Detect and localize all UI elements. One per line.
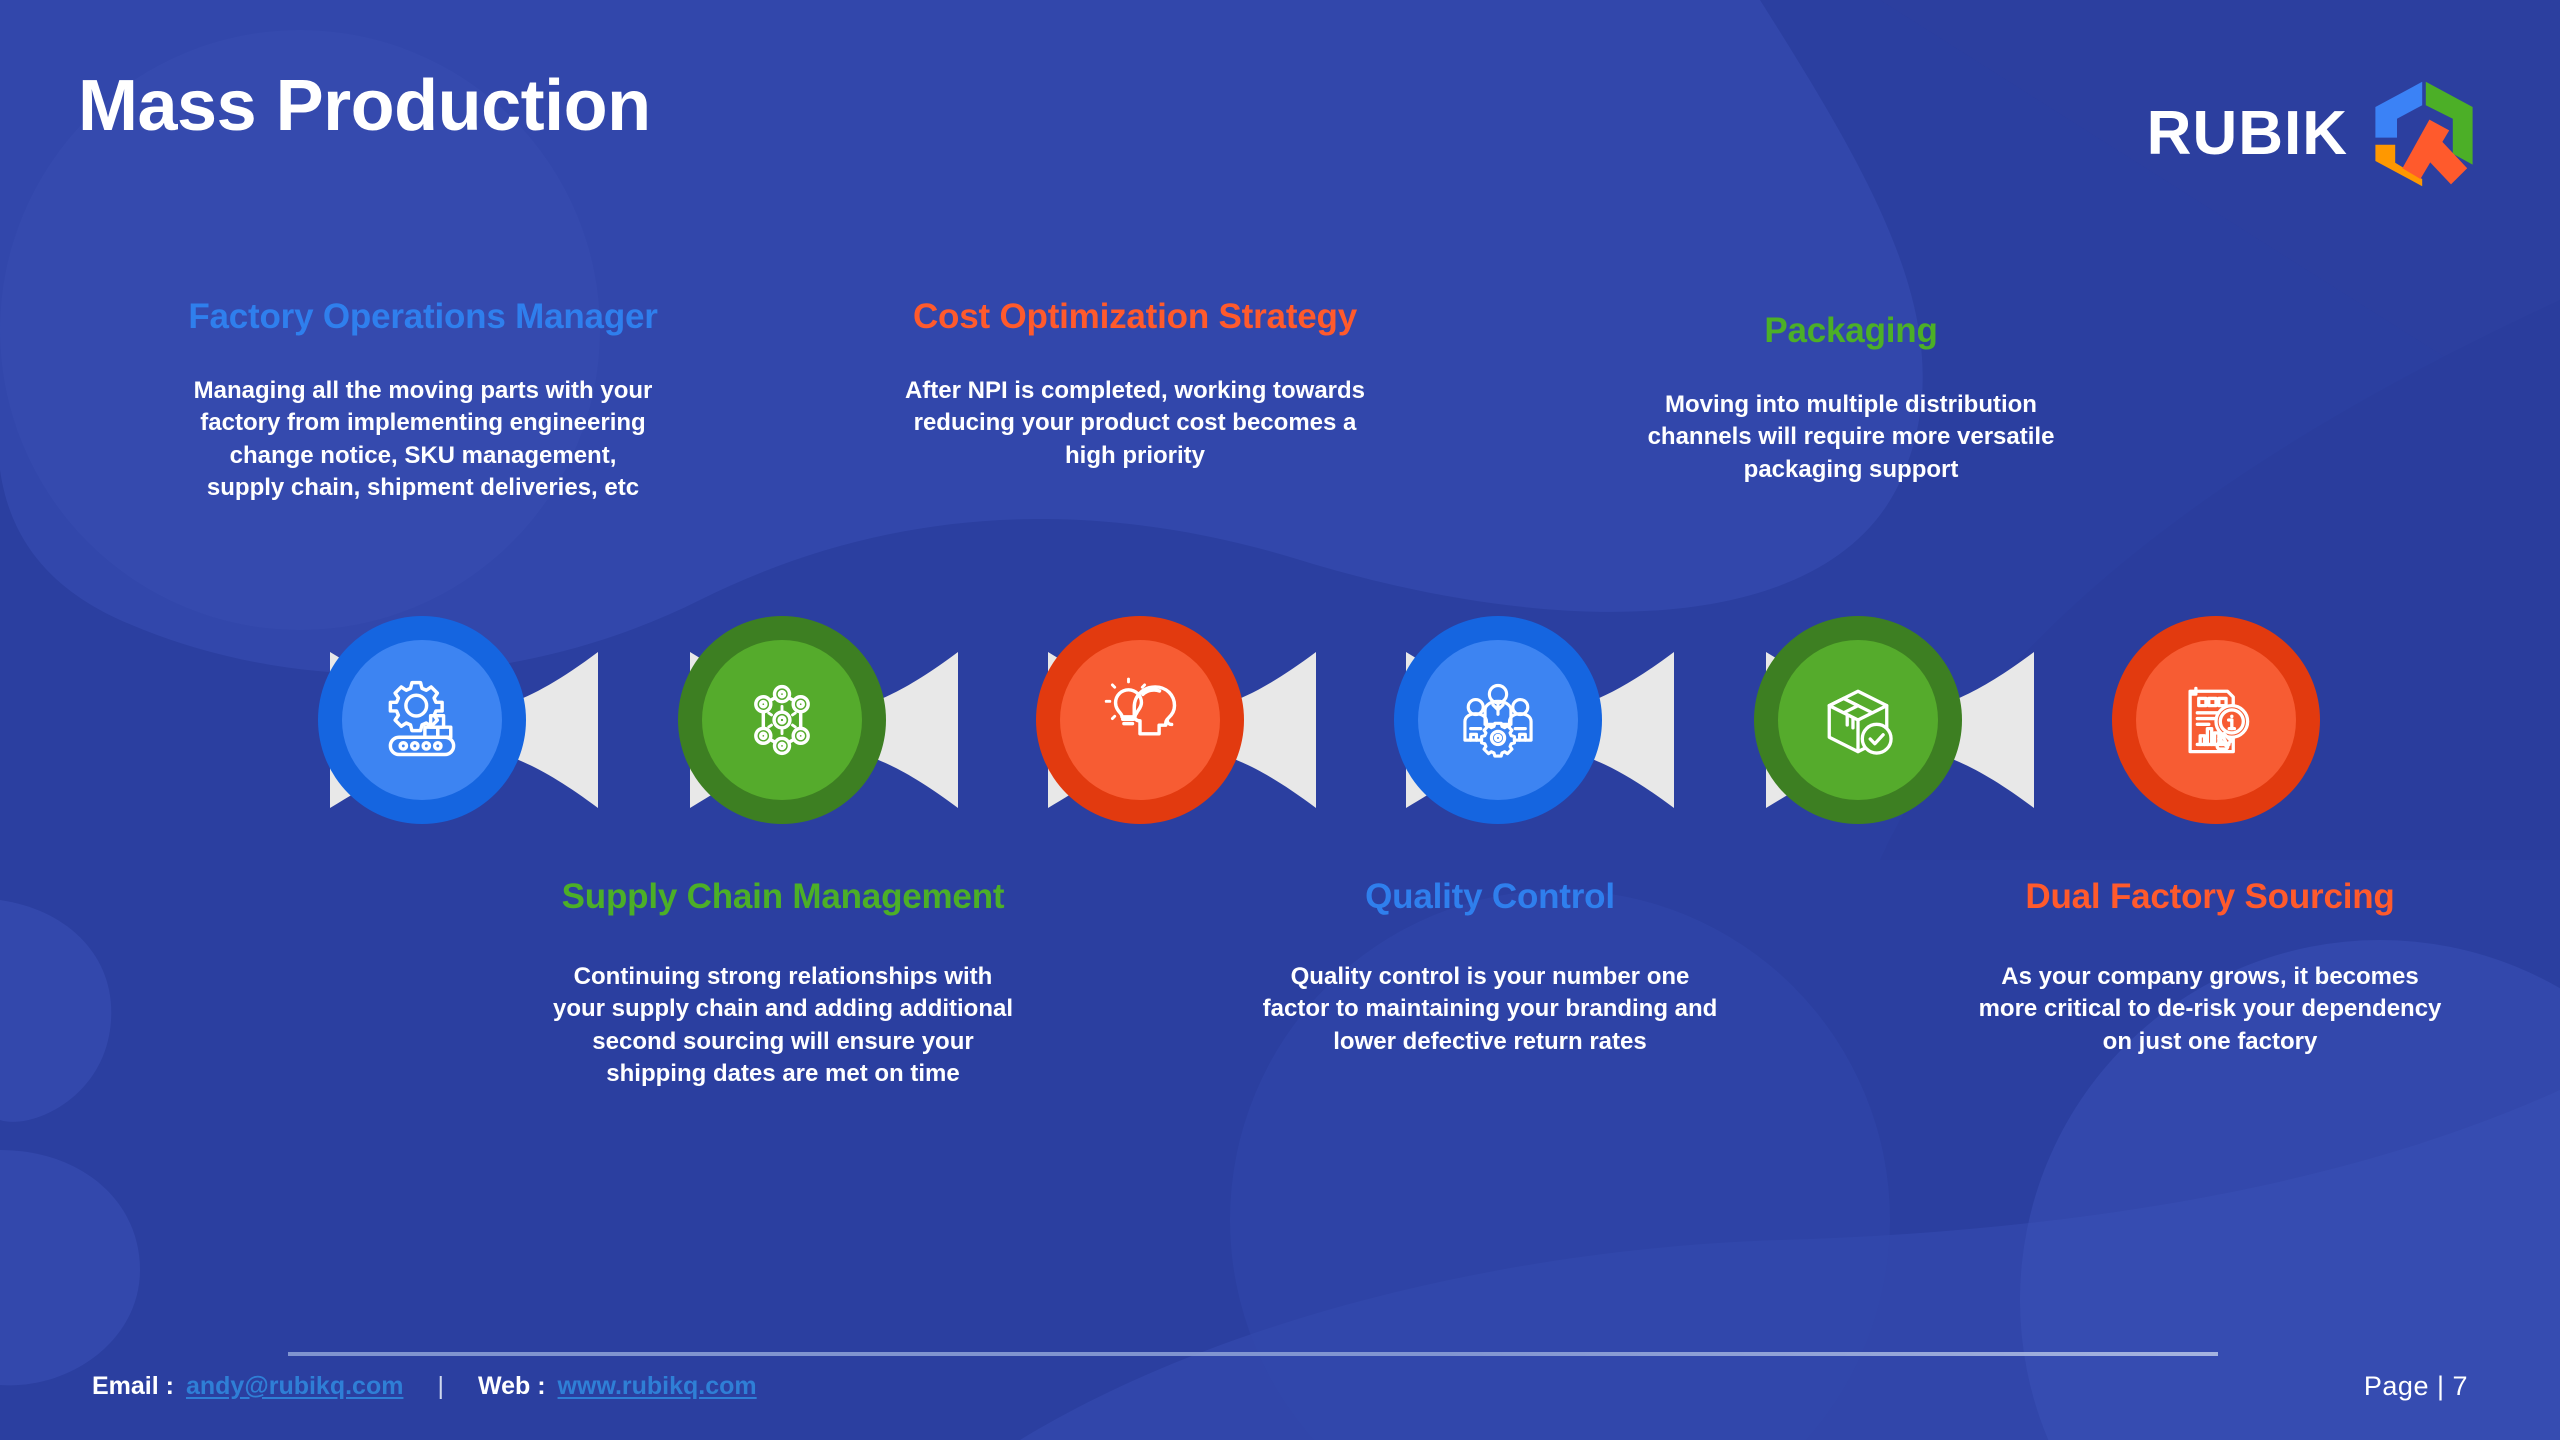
- step-node-packaging[interactable]: [1754, 616, 1962, 824]
- step-body: Quality control is your number one facto…: [1255, 961, 1725, 1057]
- logo-wordmark: RUBIK: [2147, 103, 2348, 165]
- step-text-factory-operations-manager: Factory Operations Manager Managing all …: [188, 296, 658, 504]
- step-text-cost-optimization-strategy: Cost Optimization Strategy After NPI is …: [900, 296, 1370, 472]
- footer-separator: |: [437, 1372, 444, 1401]
- conveyor-gear-icon: [376, 674, 468, 766]
- step-heading: Supply Chain Management: [548, 876, 1018, 917]
- step-heading: Quality Control: [1255, 876, 1725, 917]
- step-heading: Cost Optimization Strategy: [900, 296, 1370, 337]
- step-node-quality-control[interactable]: [1394, 616, 1602, 824]
- step-body: After NPI is completed, working towards …: [900, 375, 1370, 471]
- head-lightbulb-idea-icon: [1094, 674, 1186, 766]
- step-heading: Factory Operations Manager: [188, 296, 658, 337]
- web-label: Web :: [478, 1372, 546, 1401]
- step-body: As your company grows, it becomes more c…: [1975, 961, 2445, 1057]
- step-text-packaging: Packaging Moving into multiple distribut…: [1616, 310, 2086, 486]
- step-body: Continuing strong relationships with you…: [548, 961, 1018, 1090]
- step-node-dual-factory-sourcing[interactable]: [2112, 616, 2320, 824]
- step-node-cost-optimization-strategy[interactable]: [1036, 616, 1244, 824]
- step-text-supply-chain-management: Supply Chain Management Continuing stron…: [548, 876, 1018, 1090]
- team-gear-icon: [1452, 674, 1544, 766]
- step-heading: Dual Factory Sourcing: [1975, 876, 2445, 917]
- step-body: Managing all the moving parts with your …: [188, 375, 658, 504]
- page-number: Page | 7: [2364, 1371, 2468, 1402]
- step-node-factory-operations-manager[interactable]: [318, 616, 526, 824]
- page-title: Mass Production: [78, 70, 651, 142]
- step-text-quality-control: Quality Control Quality control is your …: [1255, 876, 1725, 1058]
- step-node-supply-chain-management[interactable]: [678, 616, 886, 824]
- footer-contact: Email : andy@rubikq.com | Web : www.rubi…: [92, 1372, 757, 1401]
- rubik-cube-logo-icon: [2370, 78, 2478, 190]
- report-magnifier-info-icon: [2170, 674, 2262, 766]
- footer-divider: [288, 1352, 2218, 1356]
- network-hub-icon: [736, 674, 828, 766]
- email-label: Email :: [92, 1372, 174, 1401]
- step-heading: Packaging: [1616, 310, 2086, 351]
- step-text-dual-factory-sourcing: Dual Factory Sourcing As your company gr…: [1975, 876, 2445, 1058]
- brand-logo: RUBIK: [2147, 78, 2478, 190]
- email-link[interactable]: andy@rubikq.com: [186, 1372, 403, 1401]
- box-check-icon: [1812, 674, 1904, 766]
- web-link[interactable]: www.rubikq.com: [558, 1372, 757, 1401]
- step-body: Moving into multiple distribution channe…: [1616, 389, 2086, 485]
